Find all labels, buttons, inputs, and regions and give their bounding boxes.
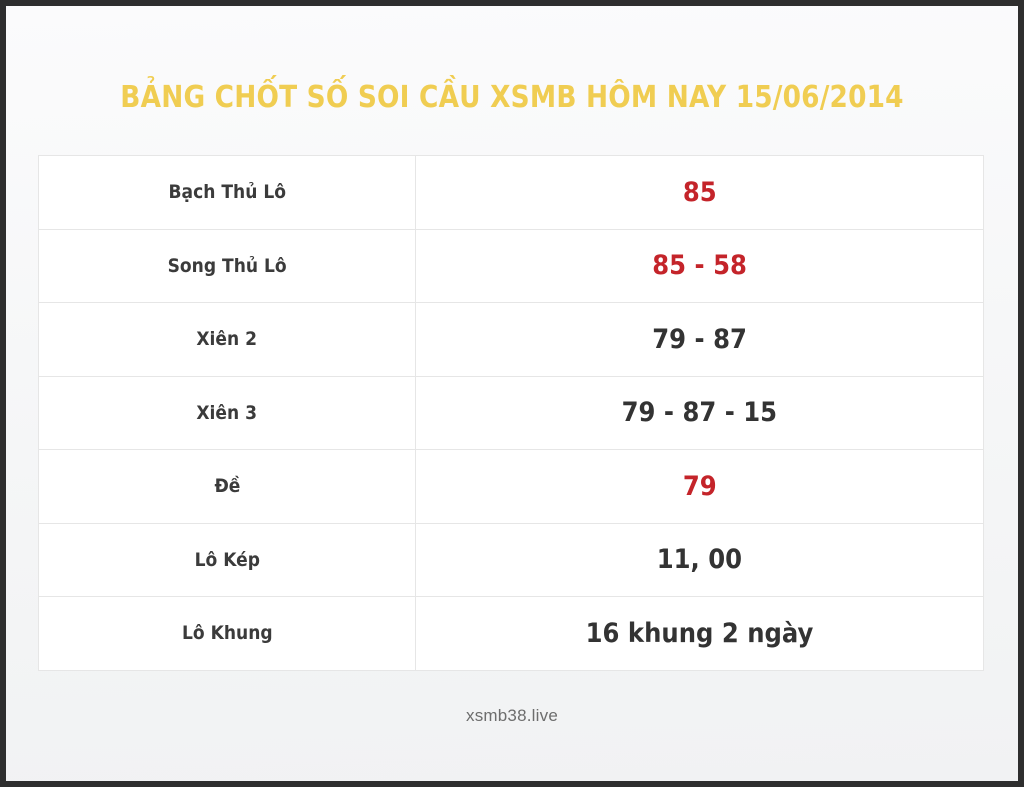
table-row: Bạch Thủ Lô85 xyxy=(39,156,983,230)
table-row: Song Thủ Lô85 - 58 xyxy=(39,230,983,304)
table-row: Lô Kép11, 00 xyxy=(39,524,983,598)
table-row: Lô Khung16 khung 2 ngày xyxy=(39,597,983,671)
row-label: Lô Khung xyxy=(182,622,273,644)
site-watermark: xsmb38.live xyxy=(6,706,1018,726)
row-label: Bạch Thủ Lô xyxy=(168,181,285,203)
table-cell-label: Xiên 2 xyxy=(39,303,416,376)
outer-frame: BẢNG CHỐT SỐ SOI CẦU XSMB HÔM NAY 15/06/… xyxy=(0,0,1024,787)
row-value: 16 khung 2 ngày xyxy=(586,618,814,649)
table-cell-value: 85 - 58 xyxy=(416,230,983,303)
result-card: BẢNG CHỐT SỐ SOI CẦU XSMB HÔM NAY 15/06/… xyxy=(6,6,1018,781)
row-value: 11, 00 xyxy=(657,544,742,575)
table-cell-label: Lô Kép xyxy=(39,524,416,597)
row-label: Lô Kép xyxy=(194,549,259,571)
table-cell-value: 79 xyxy=(416,450,983,523)
table-cell-value: 79 - 87 - 15 xyxy=(416,377,983,450)
row-label: Song Thủ Lô xyxy=(167,255,286,277)
row-label: Xiên 3 xyxy=(197,402,258,424)
row-label: Xiên 2 xyxy=(197,328,258,350)
table-cell-value: 16 khung 2 ngày xyxy=(416,597,983,670)
table-cell-label: Xiên 3 xyxy=(39,377,416,450)
row-value: 85 xyxy=(683,177,717,208)
table-cell-label: Lô Khung xyxy=(39,597,416,670)
page-title: BẢNG CHỐT SỐ SOI CẦU XSMB HÔM NAY 15/06/… xyxy=(67,78,958,118)
row-value: 79 - 87 xyxy=(652,324,747,355)
table-cell-value: 79 - 87 xyxy=(416,303,983,376)
table-cell-value: 85 xyxy=(416,156,983,229)
table-cell-label: Song Thủ Lô xyxy=(39,230,416,303)
table-row: Xiên 379 - 87 - 15 xyxy=(39,377,983,451)
table-row: Đề79 xyxy=(39,450,983,524)
table-cell-label: Bạch Thủ Lô xyxy=(39,156,416,229)
table-row: Xiên 279 - 87 xyxy=(39,303,983,377)
table-cell-value: 11, 00 xyxy=(416,524,983,597)
row-value: 79 - 87 - 15 xyxy=(622,397,777,428)
prediction-table: Bạch Thủ Lô85Song Thủ Lô85 - 58Xiên 279 … xyxy=(38,155,984,671)
row-value: 79 xyxy=(683,471,717,502)
row-value: 85 - 58 xyxy=(652,250,747,281)
table-cell-label: Đề xyxy=(39,450,416,523)
row-label: Đề xyxy=(214,475,240,497)
